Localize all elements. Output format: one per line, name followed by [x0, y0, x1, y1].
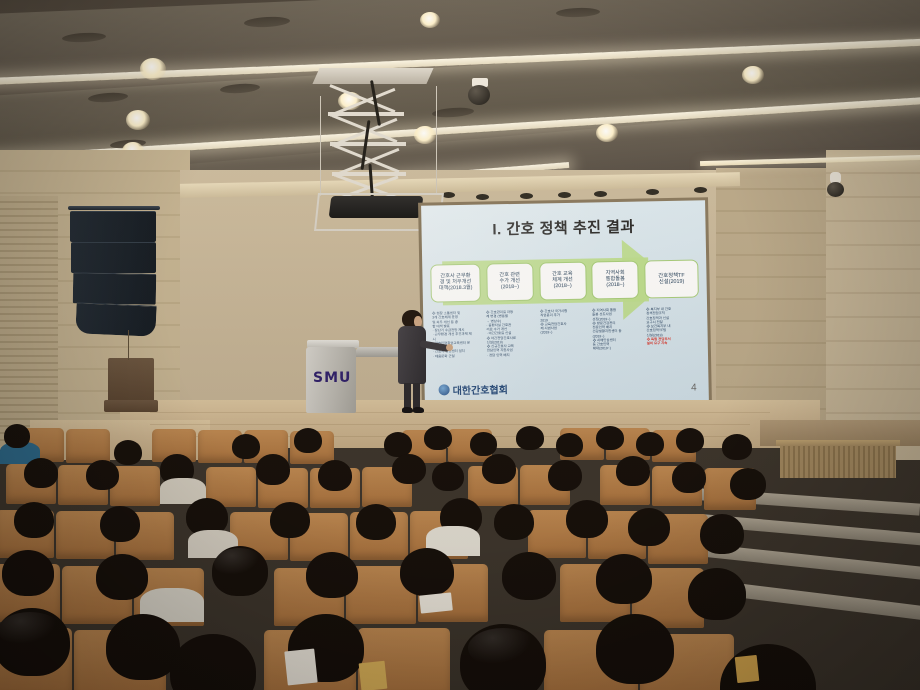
presenter-shoe	[413, 407, 424, 413]
ceiling-spotlight-6	[596, 124, 618, 142]
audience-head	[106, 614, 180, 680]
audience-head	[318, 460, 352, 491]
audience-head	[482, 454, 516, 484]
scissor-crossbar	[328, 112, 404, 116]
audience-head	[392, 454, 426, 484]
detail-line: · 전담 인력 배치	[487, 352, 536, 357]
auditorium-photo: I. 간호 정책 추진 결과 간호사 근무환 경 및 처우개선 대책(2018.…	[0, 0, 920, 690]
audience-head	[114, 440, 142, 465]
presenter-shoe	[402, 407, 413, 413]
audience-head	[494, 504, 534, 540]
audience-head	[270, 502, 310, 538]
soffit-downlight-7	[694, 187, 707, 193]
soffit-downlight-2	[476, 194, 489, 200]
audience-head	[700, 514, 744, 554]
audience-head	[616, 456, 650, 486]
audience-head	[24, 458, 58, 488]
presentation-slide: I. 간호 정책 추진 결과 간호사 근무환 경 및 처우개선 대책(2018.…	[421, 200, 709, 407]
association-name: 대한간호협회	[452, 381, 507, 397]
slide-title: I. 간호 정책 추진 결과	[421, 214, 705, 240]
audience-head	[14, 502, 54, 538]
speaker-module-2	[71, 242, 156, 273]
process-box-line3: (2018~)	[552, 284, 573, 290]
soffit-downlight-5	[594, 191, 607, 197]
audience-head	[596, 426, 624, 450]
audience-head	[96, 554, 148, 600]
scissor-crossbar	[330, 142, 406, 146]
ceiling-spotlight-1	[140, 58, 166, 80]
camera-dome	[827, 182, 844, 197]
audience-head	[676, 428, 704, 453]
slide-detail-columns: ❖ 현장 소통센터 및 3개 간호체계 운영 및 처우 개선 등 종 합 대책 …	[432, 306, 699, 358]
audience-head	[424, 426, 452, 450]
camera-dome	[468, 85, 490, 105]
stage-side-chair-seat	[104, 400, 158, 412]
audience-head	[672, 462, 706, 493]
process-box[interactable]: 간호 교육 체계 개선 (2018~)	[539, 262, 587, 301]
speaker-module-4	[75, 302, 156, 336]
audience-head	[306, 552, 358, 598]
presenter-leg	[404, 383, 411, 409]
audience-head	[596, 614, 674, 684]
presenter-hand	[446, 344, 453, 351]
presenter	[392, 310, 454, 416]
soffit-downlight-3	[520, 193, 533, 199]
process-box-line3: (2018~)	[500, 285, 521, 291]
audience-head	[548, 460, 582, 491]
ceiling-spotlight-8	[420, 12, 440, 28]
audience-head	[722, 434, 752, 460]
process-box[interactable]: 간호정책TF 신설(2019)	[644, 259, 699, 298]
audience-head	[720, 644, 816, 690]
detail-column-2: ❖ 간호관리료 차등 제 변경 (병동별 → 병상수) · 중환자실 간호관 리…	[486, 310, 536, 358]
snack-bag	[735, 655, 760, 683]
hair-highlight	[0, 612, 62, 648]
left-wall-acoustic-panel	[0, 196, 58, 446]
audience-head	[566, 500, 608, 538]
speaker-module-3	[73, 272, 157, 304]
lift-support-rod-left	[320, 96, 321, 196]
ceiling-spotlight-2	[126, 110, 150, 130]
audience-head	[4, 424, 30, 448]
speaker-module-1	[70, 211, 156, 242]
process-box[interactable]: 간호 관련 수가 개선 (2018~)	[486, 263, 534, 302]
presenter-coat	[398, 326, 426, 384]
audience-head	[516, 426, 544, 450]
audience-head	[400, 548, 454, 596]
process-box[interactable]: 지역사회 통합돌봄 (2018~)	[591, 261, 639, 300]
audience-head	[628, 508, 670, 546]
detail-line: (2019~)	[541, 330, 588, 335]
audience-head	[100, 506, 140, 542]
audience-head	[170, 634, 256, 690]
ceiling-spotlight-7	[742, 66, 764, 84]
handout-paper	[284, 649, 317, 686]
audience-head	[688, 568, 746, 620]
audience-head	[636, 432, 664, 456]
process-box-line2: 신설(2019)	[658, 279, 685, 286]
process-box-line3: 대책(2018.3월)	[439, 286, 473, 293]
stage-side-chair-back	[108, 358, 154, 404]
audience-head	[294, 428, 322, 453]
detail-column-3: ❖ 간호사 국가시험 직업윤리 추가 2019 ❖ 교육전담간호사 제 시범사업…	[540, 309, 588, 357]
detail-column-5: ❖ 복지부 내 간호 정책전담조직 간호정책과 신설 요구서 전달 ❖ 보건복지…	[646, 306, 699, 354]
stage-floor-grain	[150, 412, 770, 413]
detail-line: 확대(2019~)	[593, 346, 642, 351]
handout-paper	[419, 592, 453, 613]
audience-head	[232, 434, 260, 459]
soffit-downlight-4	[558, 192, 571, 198]
projector-body	[329, 196, 424, 218]
hair-highlight	[214, 548, 264, 578]
audience-head	[556, 433, 583, 457]
audience-seating	[0, 418, 920, 690]
soffit-downlight-6	[646, 189, 659, 195]
presenter-leg	[413, 383, 420, 409]
line-array-speaker	[66, 206, 162, 348]
speaker-rigging-bar	[68, 206, 160, 210]
process-box-line3: (2018~)	[606, 283, 625, 289]
process-box[interactable]: 간호사 근무환 경 및 처우개선 대책(2018.3월)	[430, 264, 481, 303]
podium-logo-smu: SMU	[313, 370, 351, 386]
detail-column-4: ❖ 지역사회 통합 돌봄 선도사업 선정(2019~) ❖ 방문건강관리 전문인…	[592, 308, 642, 356]
audience-head	[86, 460, 119, 490]
right-wall-recess	[716, 168, 836, 438]
process-box-row: 간호사 근무환 경 및 처우개선 대책(2018.3월) 간호 관련 수가 개선…	[430, 258, 699, 303]
microphone-stand	[128, 330, 129, 360]
audience-head	[470, 432, 497, 456]
audience-head	[502, 552, 556, 600]
audience-head	[2, 550, 54, 596]
seat	[66, 429, 110, 463]
slide-page-number: 4	[691, 382, 697, 393]
detail-line-highlighted: 설치 요구 지속	[647, 340, 699, 345]
audience-head	[730, 468, 766, 500]
audience-head	[356, 504, 396, 540]
ceiling-spotlight-4	[414, 126, 436, 144]
hair-highlight	[468, 628, 538, 668]
right-wall	[826, 150, 920, 460]
lift-support-rod-right	[436, 86, 437, 194]
audience-head	[596, 554, 652, 604]
audience-head	[256, 454, 290, 485]
audience-head	[432, 462, 464, 491]
snack-bag	[359, 661, 388, 690]
